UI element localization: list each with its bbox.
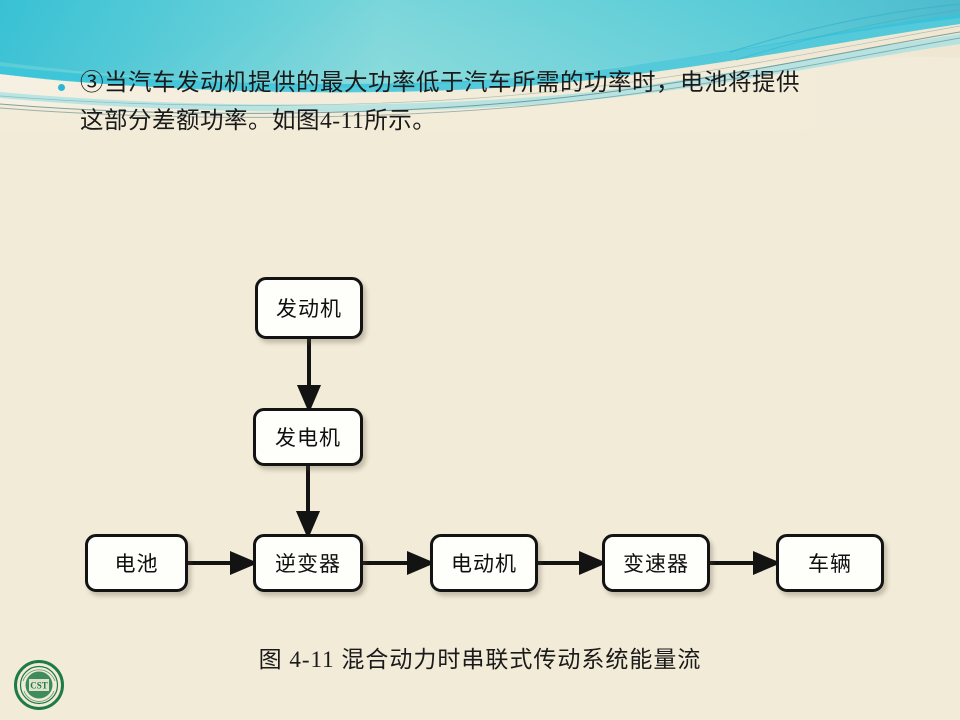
node-label-battery: 电池	[115, 548, 159, 578]
node-label-vehicle: 车辆	[808, 548, 852, 578]
diagram-node-vehicle[interactable]: 车辆	[776, 534, 884, 592]
node-label-motor: 电动机	[451, 548, 517, 578]
diagram-node-battery[interactable]: 电池	[85, 534, 188, 592]
diagram-node-engine[interactable]: 发动机	[255, 277, 363, 339]
logo-center-text: CST	[30, 681, 48, 691]
node-label-transmission: 变速器	[623, 548, 689, 578]
circular-seal-logo: CST	[14, 660, 64, 710]
diagram-node-inverter[interactable]: 逆变器	[253, 534, 363, 592]
energy-flow-diagram: 发动机 发电机 电池 逆变器 电动机 变速器 车辆	[0, 0, 960, 720]
node-label-inverter: 逆变器	[275, 548, 341, 578]
node-label-engine: 发动机	[276, 293, 342, 323]
diagram-node-generator[interactable]: 发电机	[253, 408, 363, 466]
node-label-generator: 发电机	[275, 422, 341, 452]
slide-canvas: ③当汽车发动机提供的最大功率低于汽车所需的功率时，电池将提供 这部分差额功率。如…	[0, 0, 960, 720]
diagram-node-transmission[interactable]: 变速器	[602, 534, 710, 592]
diagram-connectors	[0, 0, 960, 720]
figure-caption: 图 4-11 混合动力时串联式传动系统能量流	[0, 640, 960, 674]
diagram-node-motor[interactable]: 电动机	[430, 534, 538, 592]
